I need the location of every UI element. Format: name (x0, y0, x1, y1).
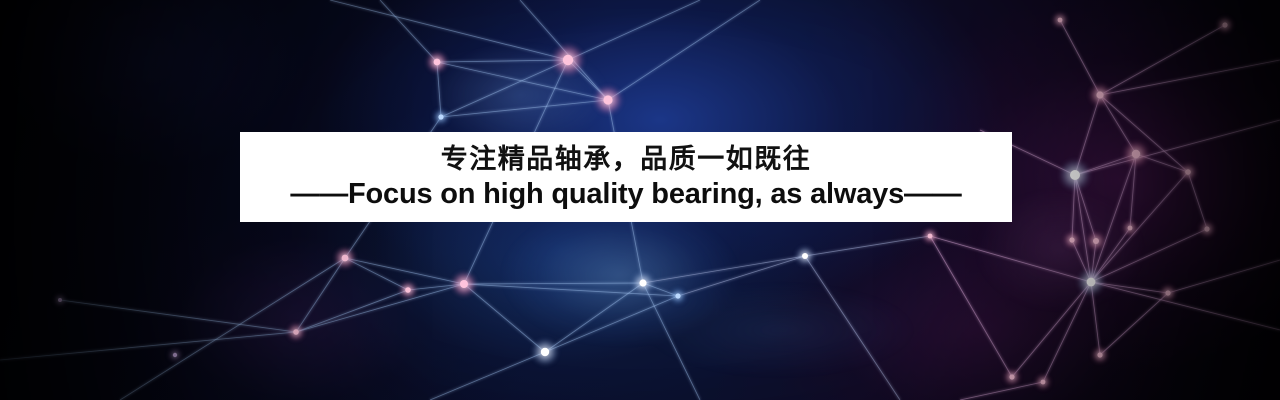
subheadline-english: ——Focus on high quality bearing, as alwa… (290, 179, 961, 211)
headline-chinese: 专注精品轴承，品质一如既往 (441, 145, 812, 175)
promo-banner: 专注精品轴承，品质一如既往 ——Focus on high quality be… (0, 0, 1280, 400)
headline-plate: 专注精品轴承，品质一如既往 ——Focus on high quality be… (240, 132, 1012, 222)
